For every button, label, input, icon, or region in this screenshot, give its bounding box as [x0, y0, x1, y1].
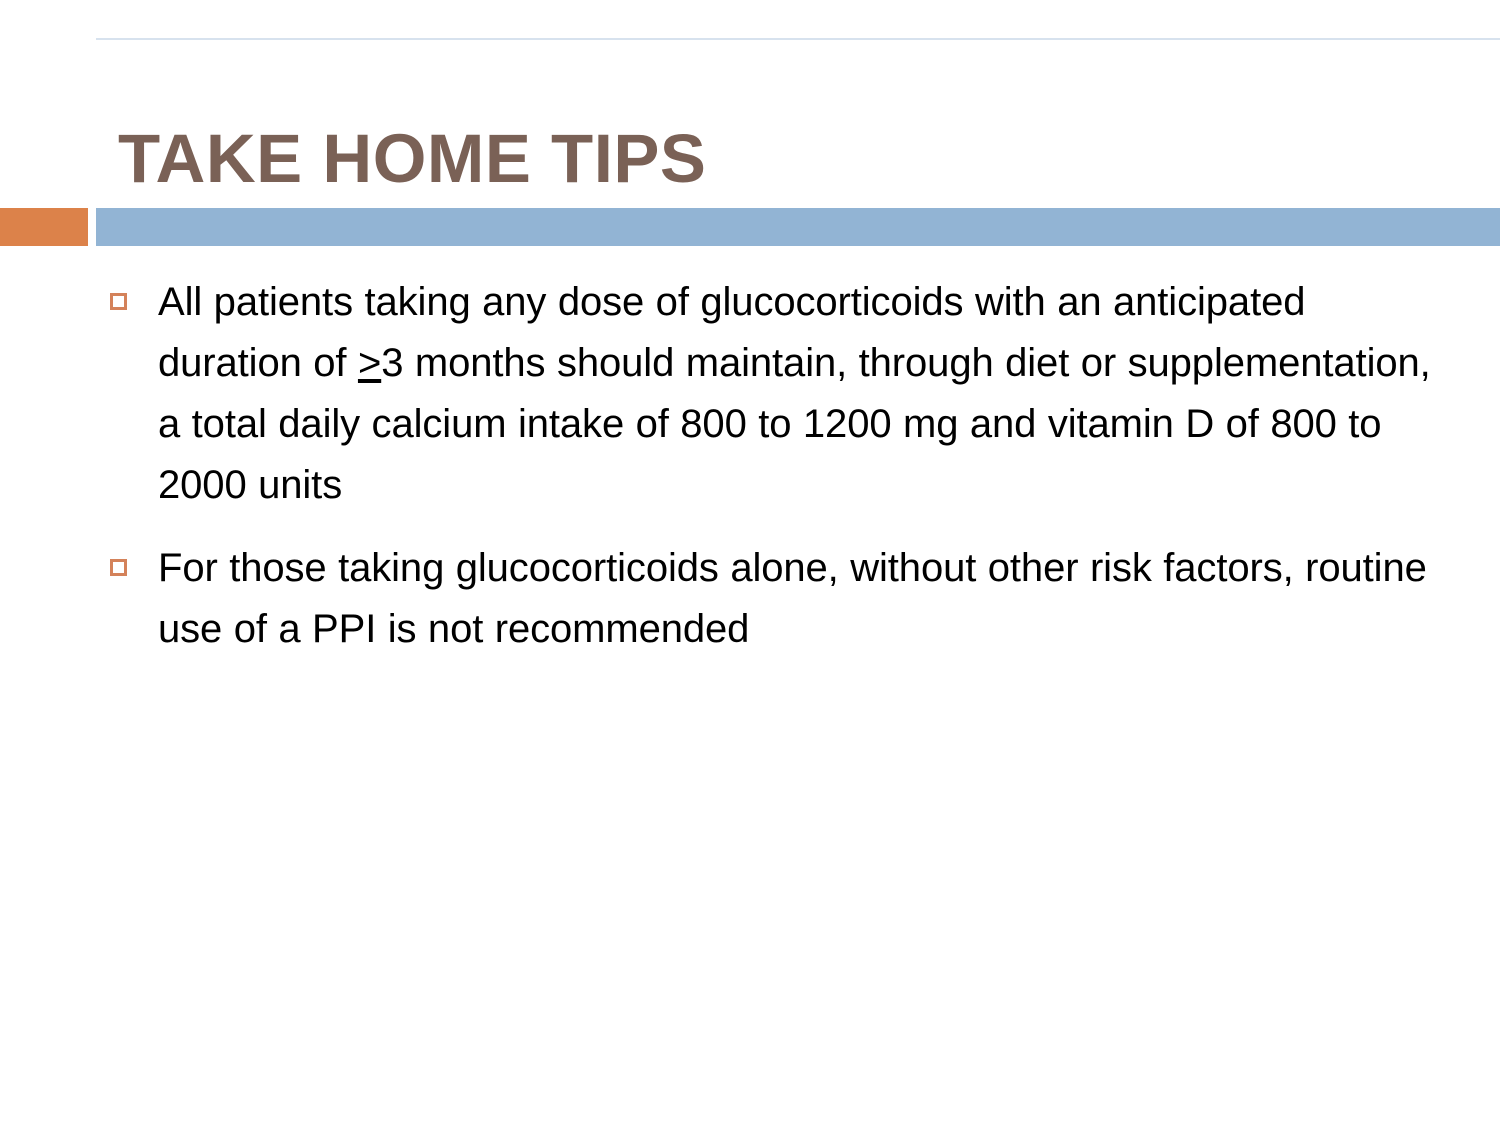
title-divider	[0, 208, 1500, 248]
presentation-slide: TAKE HOME TIPS All patients taking any d…	[0, 0, 1500, 1125]
list-item: For those taking glucocorticoids alone, …	[110, 538, 1440, 660]
page-title: TAKE HOME TIPS	[118, 124, 1418, 193]
slide-body: All patients taking any dose of glucocor…	[110, 272, 1440, 668]
list-item: All patients taking any dose of glucocor…	[110, 272, 1440, 516]
divider-band-shadow	[96, 38, 1500, 40]
list-item-text: For those taking glucocorticoids alone, …	[127, 538, 1440, 660]
square-bullet-icon	[110, 559, 127, 576]
square-bullet-icon	[110, 293, 127, 310]
divider-accent-block	[0, 208, 88, 246]
list-item-text: All patients taking any dose of glucocor…	[127, 272, 1440, 516]
greater-than-or-equal-symbol: >	[358, 341, 381, 385]
divider-band	[96, 208, 1500, 246]
